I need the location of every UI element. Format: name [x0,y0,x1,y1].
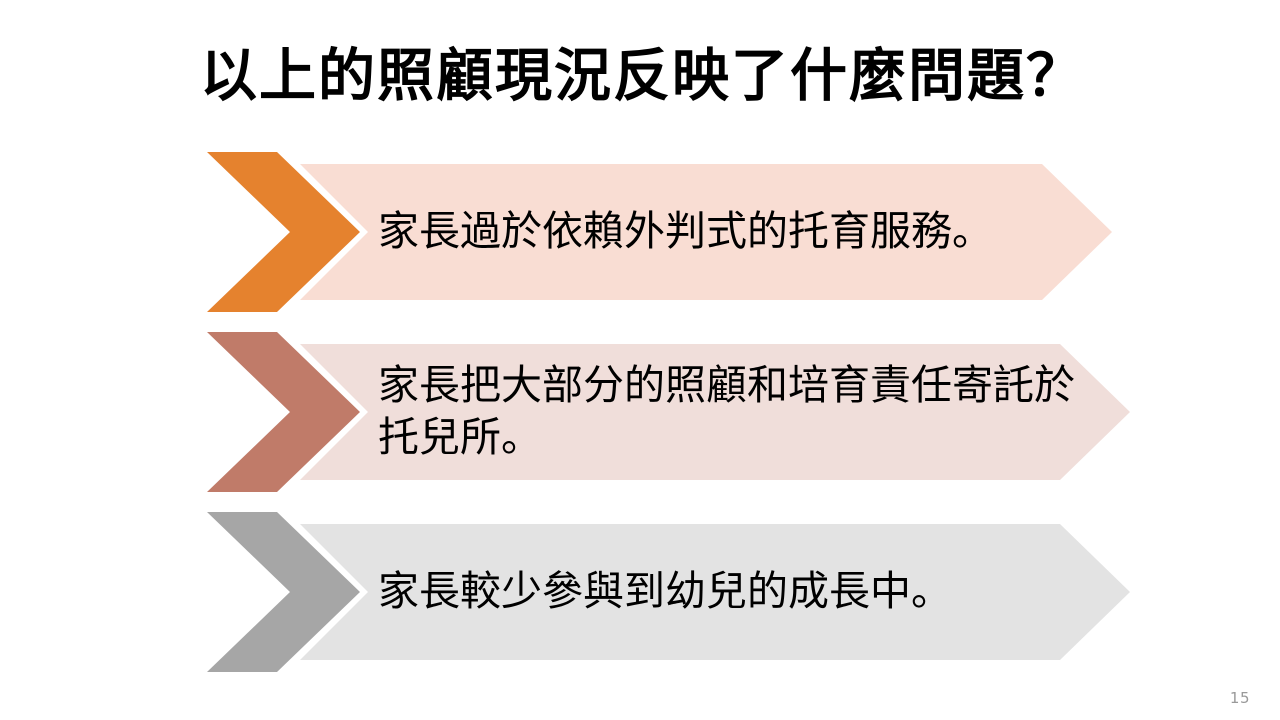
chevron-row-1-text: 家長過於依賴外判式的托育服務。 [378,148,1078,316]
slide-canvas: 以上的照顧現況反映了什麼問題？ 家長過於依賴外判式的托育服務。 家長把大部分的照… [0,0,1280,720]
page-number: 15 [1230,689,1250,707]
chevron-row-3-text: 家長較少參與到幼兒的成長中。 [378,508,1078,676]
chevron-row-1[interactable]: 家長過於依賴外判式的托育服務。 [0,148,1280,316]
chevron-row-2-text: 家長把大部分的照顧和培育責任寄託於托兒所。 [378,328,1090,496]
chevron-row-3[interactable]: 家長較少參與到幼兒的成長中。 [0,508,1280,676]
chevron-row-2[interactable]: 家長把大部分的照顧和培育責任寄託於托兒所。 [0,328,1280,496]
page-title: 以上的照顧現況反映了什麼問題？ [200,36,1100,116]
